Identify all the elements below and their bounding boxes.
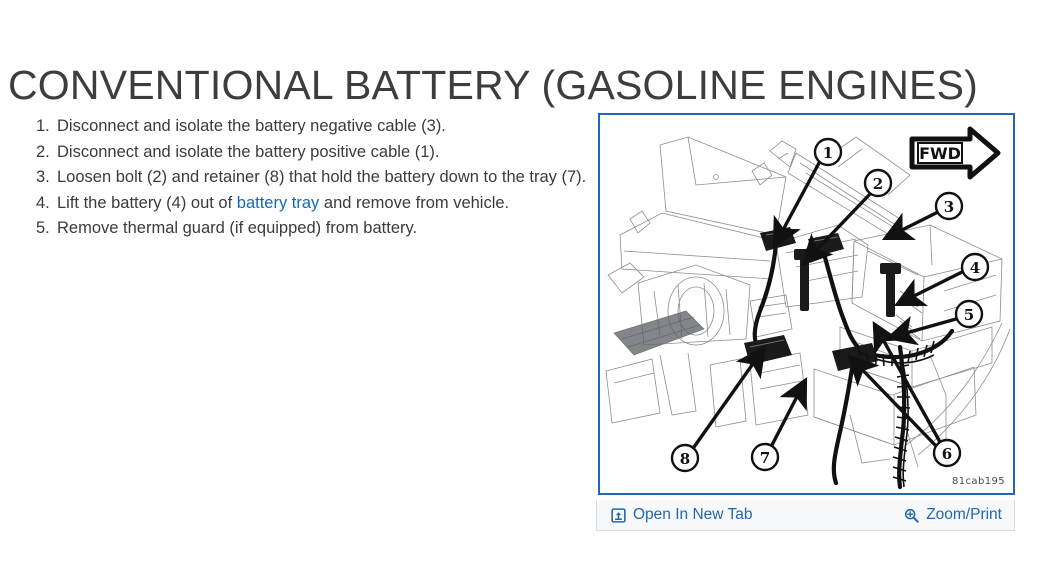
list-item-text: Remove thermal guard (if equipped) from … [57,219,417,237]
figure-caption: 81cab195 [952,476,1005,487]
list-item-number: 4. [36,191,54,217]
svg-text:8: 8 [680,450,690,468]
callout-1: 1 [815,139,841,165]
list-item-number: 1. [36,114,54,140]
list-item: 2.Disconnect and isolate the battery pos… [36,140,602,166]
magnifier-plus-icon [904,508,919,523]
zoom-print-label: Zoom/Print [926,506,1002,524]
svg-text:7: 7 [760,449,770,467]
callout-6: 6 [934,440,960,466]
list-item-number: 2. [36,140,54,166]
figure-toolbar: Open In New Tab Zoom/Print [596,500,1015,531]
list-item: 4.Lift the battery (4) out of battery tr… [36,191,602,217]
callout-3: 3 [936,193,962,219]
list-item-text-after: and remove from vehicle. [319,194,509,212]
callout-4: 4 [962,254,988,280]
list-item-number: 3. [36,165,54,191]
figure-panel: FWD [596,110,1015,531]
svg-text:4: 4 [970,259,980,277]
page-title: CONVENTIONAL BATTERY (GASOLINE ENGINES) [8,61,978,109]
list-item: 5.Remove thermal guard (if equipped) fro… [36,216,602,242]
list-item-text: Loosen bolt (2) and retainer (8) that ho… [57,168,586,186]
callout-8: 8 [672,445,698,471]
svg-text:1: 1 [823,144,833,162]
svg-text:6: 6 [942,445,952,463]
list-item: 3.Loosen bolt (2) and retainer (8) that … [36,165,602,191]
callout-5: 5 [956,301,982,327]
list-item-number: 5. [36,216,54,242]
list-item-text-before: Lift the battery (4) out of [57,194,237,212]
zoom-print-button[interactable]: Zoom/Print [904,506,1002,524]
svg-text:3: 3 [944,198,954,216]
open-in-new-tab-label: Open In New Tab [633,506,752,524]
svg-text:FWD: FWD [919,144,961,163]
open-in-new-tab-button[interactable]: Open In New Tab [611,506,752,524]
battery-location-diagram: FWD [600,115,1013,493]
figure-image-frame[interactable]: FWD [598,113,1015,495]
list-item-text: Disconnect and isolate the battery posit… [57,143,439,161]
list-item: 1.Disconnect and isolate the battery neg… [36,114,602,140]
callout-7: 7 [752,444,778,470]
external-link-icon [611,508,626,523]
fwd-arrow-icon: FWD [912,129,998,177]
svg-text:5: 5 [964,306,974,324]
battery-tray-link[interactable]: battery tray [237,194,320,212]
instruction-list: 1.Disconnect and isolate the battery neg… [36,114,602,242]
list-item-text: Disconnect and isolate the battery negat… [57,117,446,135]
callout-2: 2 [865,170,891,196]
svg-text:2: 2 [873,175,883,193]
